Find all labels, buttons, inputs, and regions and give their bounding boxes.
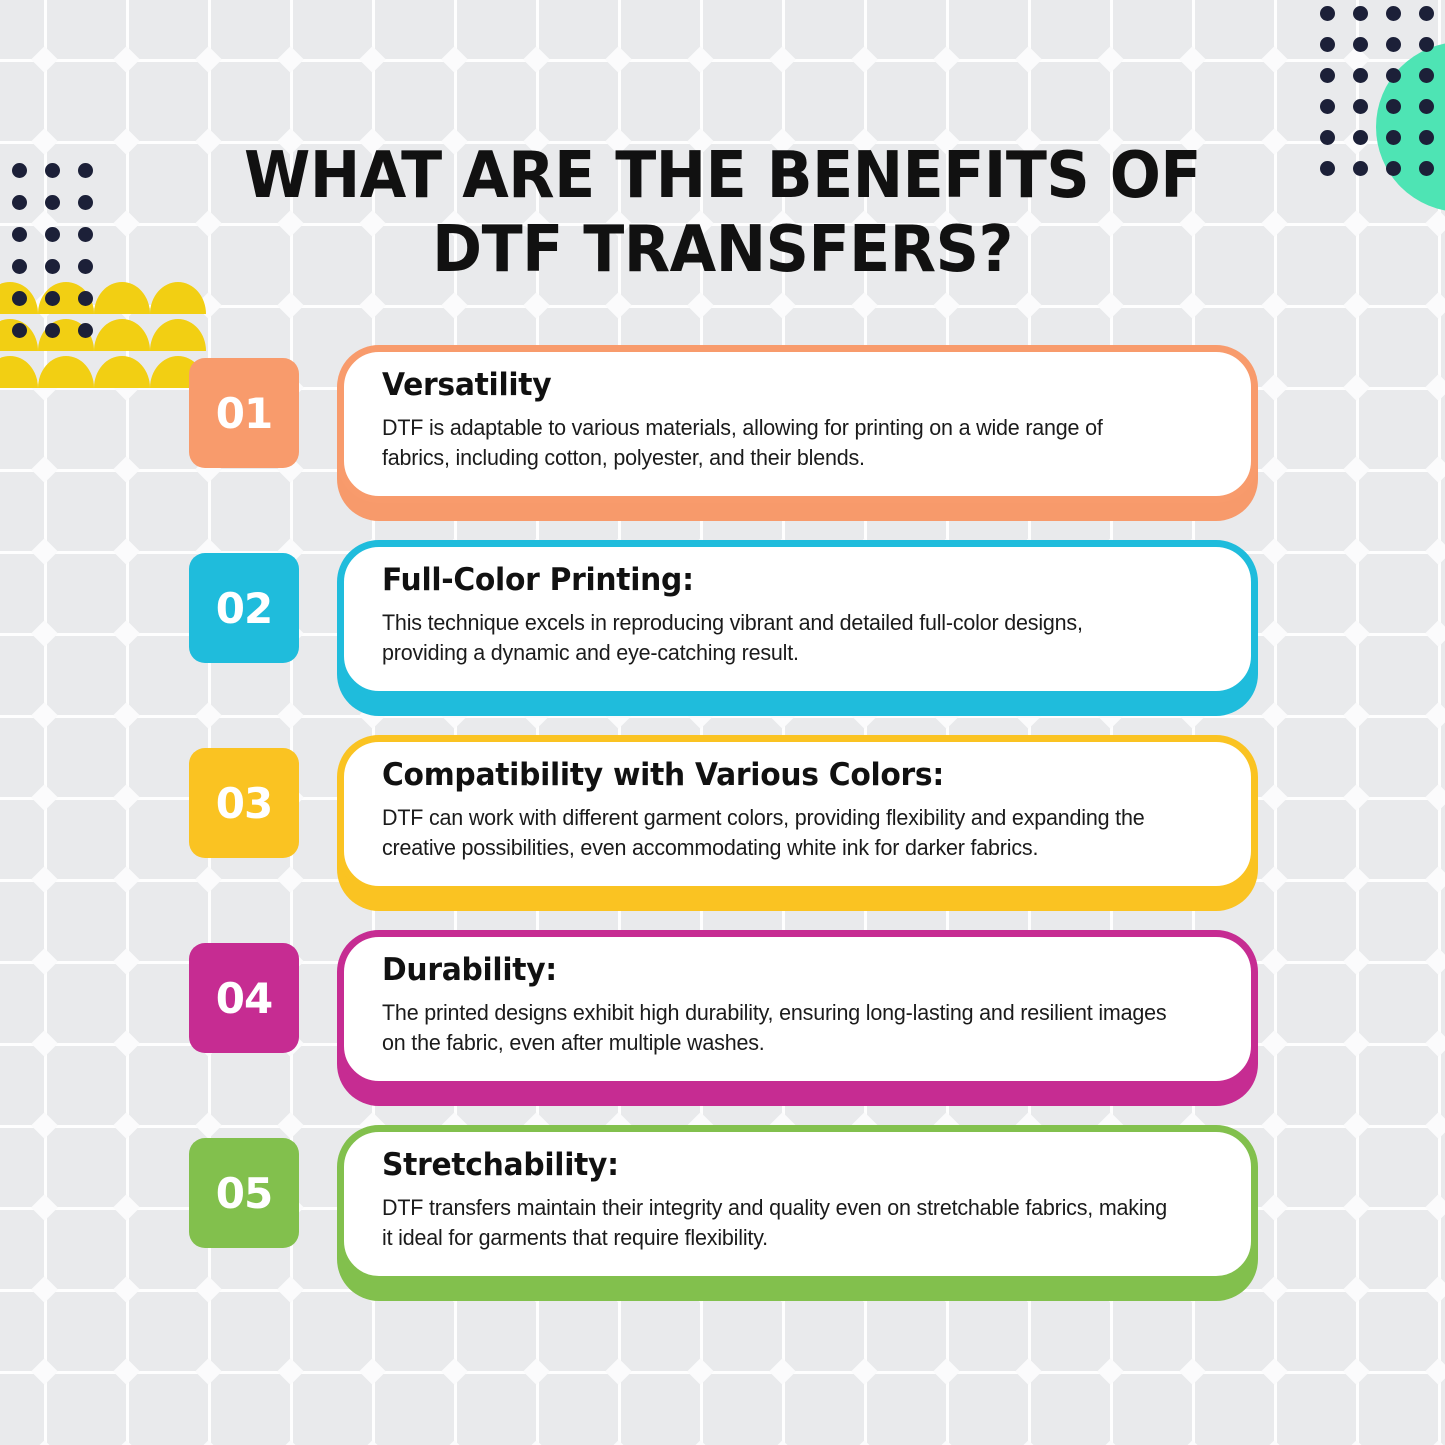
benefit-card-body: This technique excels in reproducing vib… xyxy=(382,608,1174,669)
benefit-number-badge: 05 xyxy=(189,1138,299,1248)
benefit-number-badge: 02 xyxy=(189,553,299,663)
benefit-number-badge: 01 xyxy=(189,358,299,468)
benefit-card-title: Full-Color Printing: xyxy=(382,563,1178,599)
benefit-card: Durability:The printed designs exhibit h… xyxy=(337,930,1258,1088)
benefit-card-title: Stretchability: xyxy=(382,1148,1178,1184)
benefit-card-title: Durability: xyxy=(382,953,1178,989)
benefit-card-body: DTF is adaptable to various materials, a… xyxy=(382,413,1174,474)
page-title: WHAT ARE THE BENEFITS OF DTF TRANSFERS? xyxy=(184,140,1260,287)
benefit-card-title: Versatility xyxy=(382,368,1178,404)
benefit-item: Durability:The printed designs exhibit h… xyxy=(0,925,1445,1120)
page-content: WHAT ARE THE BENEFITS OF DTF TRANSFERS? … xyxy=(0,0,1445,1445)
benefit-card-body: DTF can work with different garment colo… xyxy=(382,803,1174,864)
benefit-card: Compatibility with Various Colors:DTF ca… xyxy=(337,735,1258,893)
benefit-list: VersatilityDTF is adaptable to various m… xyxy=(0,340,1445,1315)
benefit-card: Stretchability:DTF transfers maintain th… xyxy=(337,1125,1258,1283)
benefit-number-badge: 04 xyxy=(189,943,299,1053)
benefit-item: VersatilityDTF is adaptable to various m… xyxy=(0,340,1445,535)
benefit-card-body: The printed designs exhibit high durabil… xyxy=(382,998,1174,1059)
benefit-item: Compatibility with Various Colors:DTF ca… xyxy=(0,730,1445,925)
benefit-card-title: Compatibility with Various Colors: xyxy=(382,758,1178,794)
benefit-card: Full-Color Printing:This technique excel… xyxy=(337,540,1258,698)
benefit-item: Full-Color Printing:This technique excel… xyxy=(0,535,1445,730)
benefit-item: Stretchability:DTF transfers maintain th… xyxy=(0,1120,1445,1315)
benefit-number-badge: 03 xyxy=(189,748,299,858)
benefit-card: VersatilityDTF is adaptable to various m… xyxy=(337,345,1258,503)
benefit-card-body: DTF transfers maintain their integrity a… xyxy=(382,1193,1174,1254)
